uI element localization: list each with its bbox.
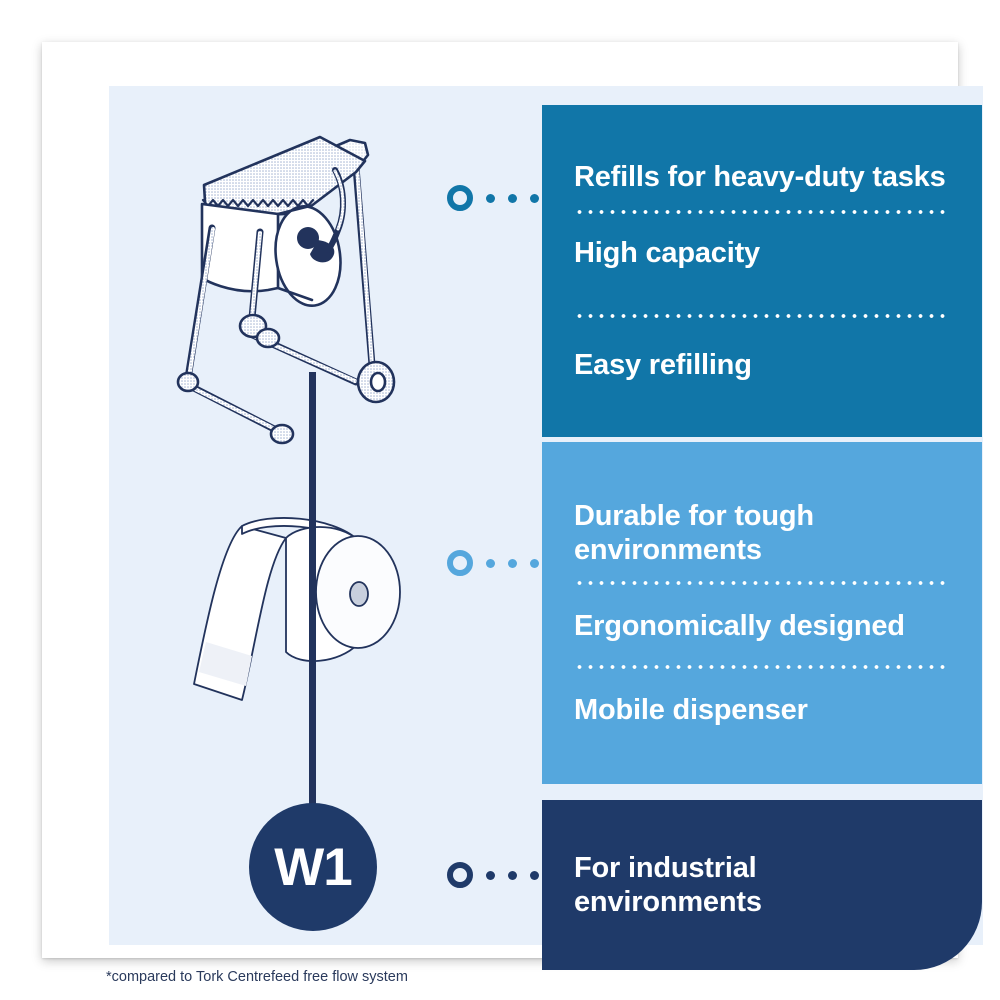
system-code-badge: W1 xyxy=(249,803,377,931)
connector-spine xyxy=(309,372,316,824)
feature-item: Durable for tough environments xyxy=(574,499,950,567)
connector-ring-icon xyxy=(447,862,473,888)
connector-dot-icon xyxy=(486,871,495,880)
feature-item: Ergonomically designed xyxy=(574,609,950,643)
connector-dot-icon xyxy=(530,871,539,880)
feature-item: Refills for heavy-duty tasks xyxy=(574,160,950,194)
connector-dot-icon xyxy=(486,194,495,203)
feature-item: Easy refilling xyxy=(574,348,950,382)
product-info-card: W1 Refills for xyxy=(42,42,958,958)
feature-item: Mobile dispenser xyxy=(574,693,950,727)
feature-item: For industrial environments xyxy=(574,851,950,919)
system-code-label: W1 xyxy=(274,837,352,898)
connector-dot-icon xyxy=(508,871,517,880)
connector-dot-icon xyxy=(508,559,517,568)
connector-ring-icon xyxy=(447,185,473,211)
connector-dot-icon xyxy=(486,559,495,568)
infographic-stage: W1 Refills for xyxy=(0,0,1000,1000)
paper-roll-illustration xyxy=(182,504,422,714)
feature-panel-tertiary: For industrial environments xyxy=(542,800,982,970)
mobile-dispenser-illustration xyxy=(160,110,420,450)
feature-panel-secondary: Durable for tough environments Ergonomic… xyxy=(542,442,982,784)
feature-panel-primary: Refills for heavy-duty tasks High capaci… xyxy=(542,105,982,437)
connector-dot-icon xyxy=(530,559,539,568)
connector-dot-icon xyxy=(508,194,517,203)
feature-item: High capacity xyxy=(574,236,950,270)
connector-dot-icon xyxy=(530,194,539,203)
footnote-text: *compared to Tork Centrefeed free flow s… xyxy=(106,969,408,985)
connector-ring-icon xyxy=(447,550,473,576)
